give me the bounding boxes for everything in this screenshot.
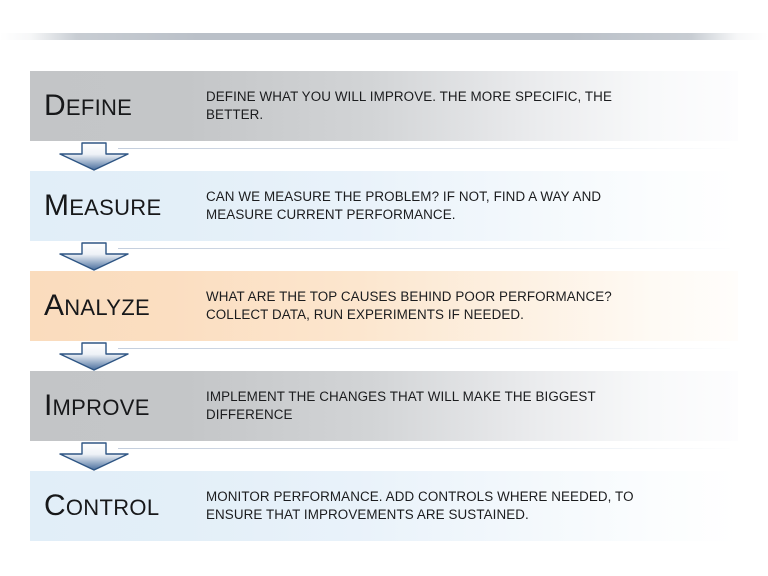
down-arrow-icon (58, 441, 130, 471)
down-arrow-icon (58, 341, 130, 371)
stage-define: DEFINEDEFINE WHAT YOU WILL IMPROVE. THE … (30, 71, 738, 141)
connector-divider-line (118, 448, 730, 449)
stage-analyze-description-line: COLLECT DATA, RUN EXPERIMENTS IF NEEDED. (206, 306, 726, 324)
stage-analyze-description-line: WHAT ARE THE TOP CAUSES BEHIND POOR PERF… (206, 288, 726, 306)
dmaic-diagram: DEFINEDEFINE WHAT YOU WILL IMPROVE. THE … (30, 71, 738, 541)
stage-control: CONTROLMONITOR PERFORMANCE. ADD CONTROLS… (30, 471, 738, 541)
stage-control-initial: C (44, 489, 66, 522)
stage-improve-label-rest: MPROVE (53, 395, 150, 420)
stage-analyze: ANALYZEWHAT ARE THE TOP CAUSES BEHIND PO… (30, 271, 738, 341)
connector-down-arrow (58, 441, 130, 471)
stage-connector (30, 141, 738, 171)
stage-improve-description: IMPLEMENT THE CHANGES THAT WILL MAKE THE… (206, 388, 738, 424)
stage-improve-label: IMPROVE (30, 391, 206, 421)
stage-define-label: DEFINE (30, 91, 206, 121)
stage-measure-label: MEASURE (30, 191, 206, 221)
stage-measure-initial: M (44, 189, 69, 222)
connector-down-arrow (58, 141, 130, 171)
stage-define-label-rest: EFINE (66, 95, 132, 120)
stage-analyze-description: WHAT ARE THE TOP CAUSES BEHIND POOR PERF… (206, 288, 738, 324)
stage-measure: MEASURECAN WE MEASURE THE PROBLEM? IF NO… (30, 171, 738, 241)
stage-measure-description-line: CAN WE MEASURE THE PROBLEM? IF NOT, FIND… (206, 188, 726, 206)
stage-control-description-line: MONITOR PERFORMANCE. ADD CONTROLS WHERE … (206, 488, 726, 506)
stage-measure-description: CAN WE MEASURE THE PROBLEM? IF NOT, FIND… (206, 188, 738, 224)
top-gradient-bar (0, 33, 768, 40)
stage-define-description-line: BETTER. (206, 106, 726, 124)
stage-improve-description-line: DIFFERENCE (206, 406, 726, 424)
connector-divider-line (118, 248, 730, 249)
stage-measure-label-rest: EASURE (69, 195, 161, 220)
connector-divider-line (118, 148, 730, 149)
stage-analyze-label-rest: NALYZE (64, 295, 150, 320)
stage-connector (30, 341, 738, 371)
stage-control-label: CONTROL (30, 491, 206, 521)
stage-define-description: DEFINE WHAT YOU WILL IMPROVE. THE MORE S… (206, 88, 738, 124)
stage-define-description-line: DEFINE WHAT YOU WILL IMPROVE. THE MORE S… (206, 88, 726, 106)
stage-connector (30, 441, 738, 471)
stage-analyze-initial: A (44, 289, 64, 322)
stage-measure-description-line: MEASURE CURRENT PERFORMANCE. (206, 206, 726, 224)
stage-define-initial: D (44, 89, 66, 122)
connector-divider-line (118, 348, 730, 349)
stage-control-label-rest: ONTROL (66, 495, 159, 520)
stage-improve: IMPROVEIMPLEMENT THE CHANGES THAT WILL M… (30, 371, 738, 441)
connector-down-arrow (58, 341, 130, 371)
down-arrow-icon (58, 141, 130, 171)
stage-control-description-line: ENSURE THAT IMPROVEMENTS ARE SUSTAINED. (206, 506, 726, 524)
stage-analyze-label: ANALYZE (30, 291, 206, 321)
stage-improve-initial: I (44, 389, 53, 422)
stage-improve-description-line: IMPLEMENT THE CHANGES THAT WILL MAKE THE… (206, 388, 726, 406)
down-arrow-icon (58, 241, 130, 271)
connector-down-arrow (58, 241, 130, 271)
stage-control-description: MONITOR PERFORMANCE. ADD CONTROLS WHERE … (206, 488, 738, 524)
stage-connector (30, 241, 738, 271)
